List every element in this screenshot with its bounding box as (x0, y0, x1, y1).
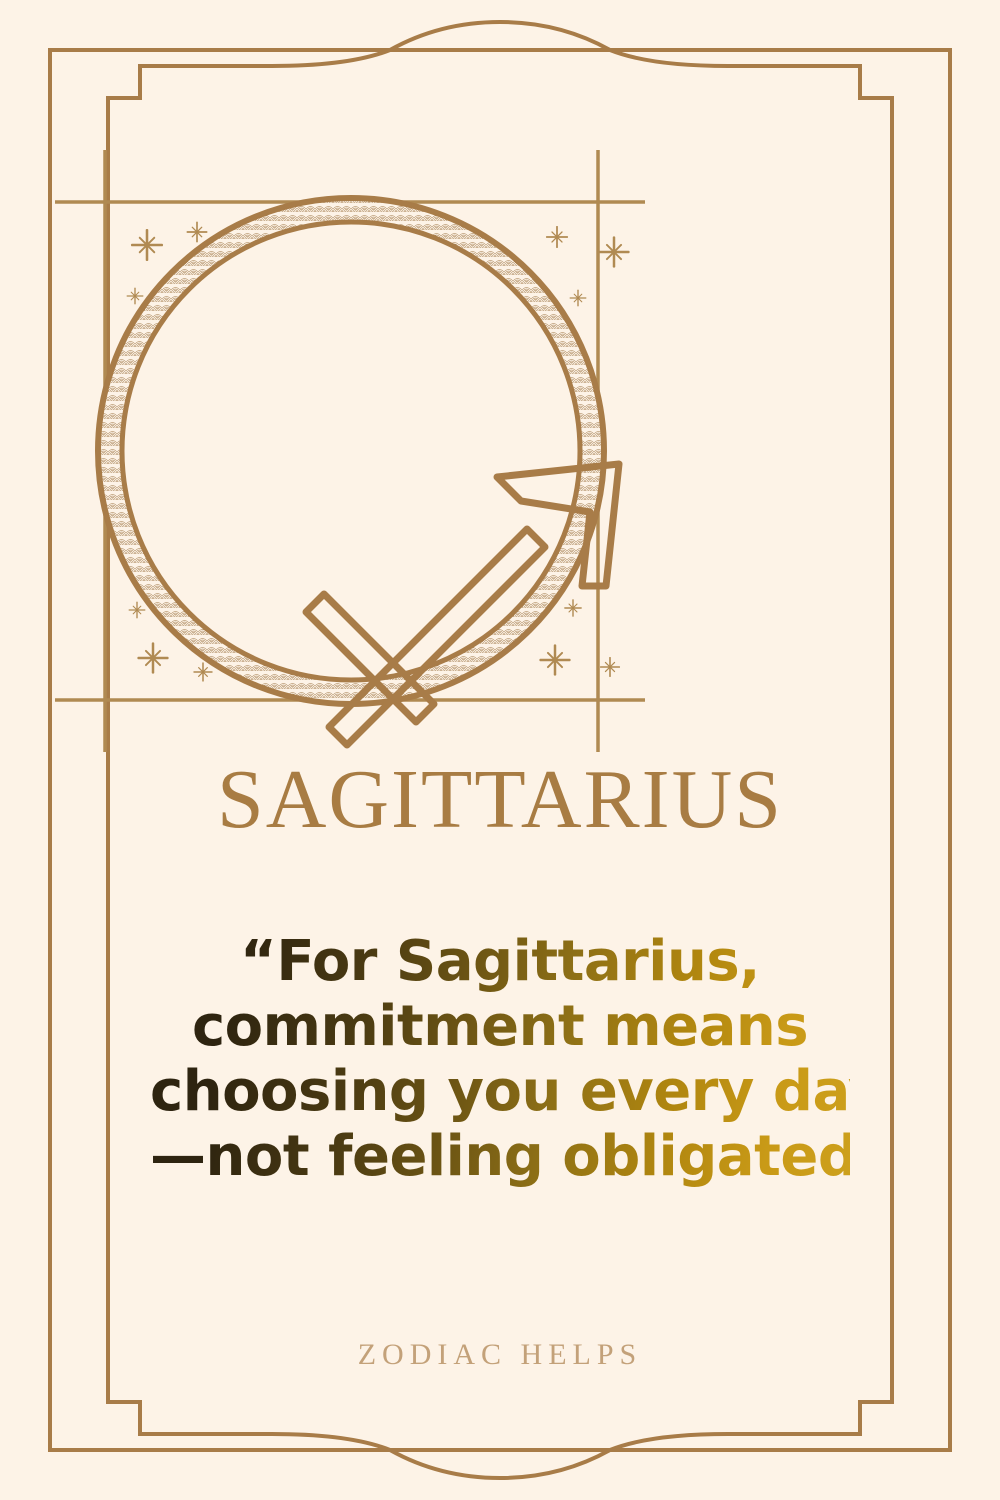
ring-inner-circle (122, 222, 580, 680)
sparkle-icon (137, 642, 168, 673)
sparkle-cluster-bottom-right (539, 599, 620, 677)
sparkle-icon (570, 290, 587, 307)
zodiac-emblem (0, 140, 1000, 760)
sparkle-cluster-top-right (546, 226, 630, 306)
sparkle-icon (129, 602, 146, 619)
sparkle-icon (600, 657, 620, 677)
sparkle-icon (564, 599, 582, 617)
brand-footer: ZODIAC HELPS (0, 1338, 1000, 1372)
sparkle-icon (598, 236, 629, 267)
quote-line: —not feeling obligated.” (150, 1125, 850, 1190)
quote-line: “For Sagittarius, (150, 930, 850, 995)
ring-outer-circle (98, 198, 604, 704)
sparkle-icon (131, 229, 163, 261)
sparkle-icon (127, 288, 144, 305)
emblem-ring (98, 198, 604, 704)
zodiac-poster: SAGITTARIUS “For Sagittarius, commitment… (0, 0, 1000, 1500)
sparkle-icon (546, 226, 568, 248)
sparkle-icon (539, 644, 570, 675)
quote-line: commitment means (150, 995, 850, 1060)
sparkle-icon (187, 222, 208, 243)
sagittarius-arrow-glyph (306, 464, 619, 745)
sparkle-icon (193, 662, 212, 681)
quote-block: “For Sagittarius, commitment means choos… (150, 930, 850, 1190)
quote-line: choosing you every day (150, 1060, 850, 1125)
page-title: SAGITTARIUS (0, 758, 1000, 842)
